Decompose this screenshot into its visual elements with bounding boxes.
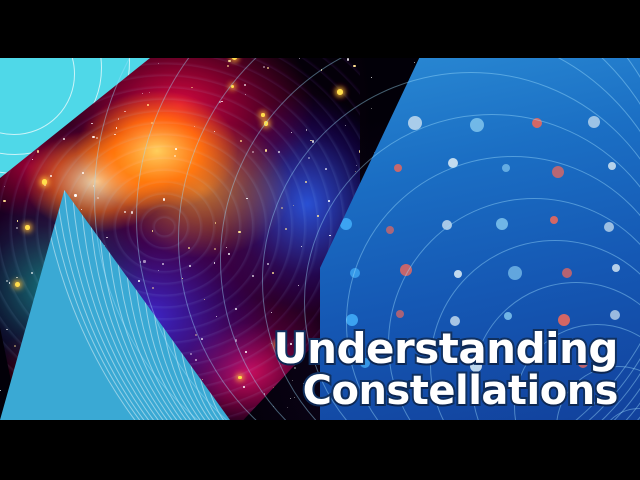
- nebula-star: [16, 227, 18, 229]
- thumbnail-content-band: Understanding Constellations: [0, 58, 640, 420]
- nebula-star: [74, 194, 76, 196]
- title-line-1: Understanding: [273, 328, 618, 371]
- nebula-star: [96, 137, 98, 139]
- video-thumbnail: Understanding Constellations: [0, 0, 640, 480]
- background-star: [0, 390, 1, 391]
- letterbox-bar-top: [0, 0, 640, 58]
- nebula-star: [17, 220, 18, 221]
- nebula-star: [37, 150, 39, 152]
- nebula-star: [14, 345, 16, 347]
- nebula-star: [3, 200, 5, 202]
- nebula-star: [4, 186, 5, 187]
- letterbox-bar-bottom: [0, 420, 640, 480]
- nebula-star: [16, 277, 17, 278]
- thumbnail-title: Understanding Constellations: [273, 328, 618, 412]
- nebula-star: [25, 225, 30, 230]
- title-line-2: Constellations: [273, 371, 618, 412]
- nebula-star: [82, 172, 84, 174]
